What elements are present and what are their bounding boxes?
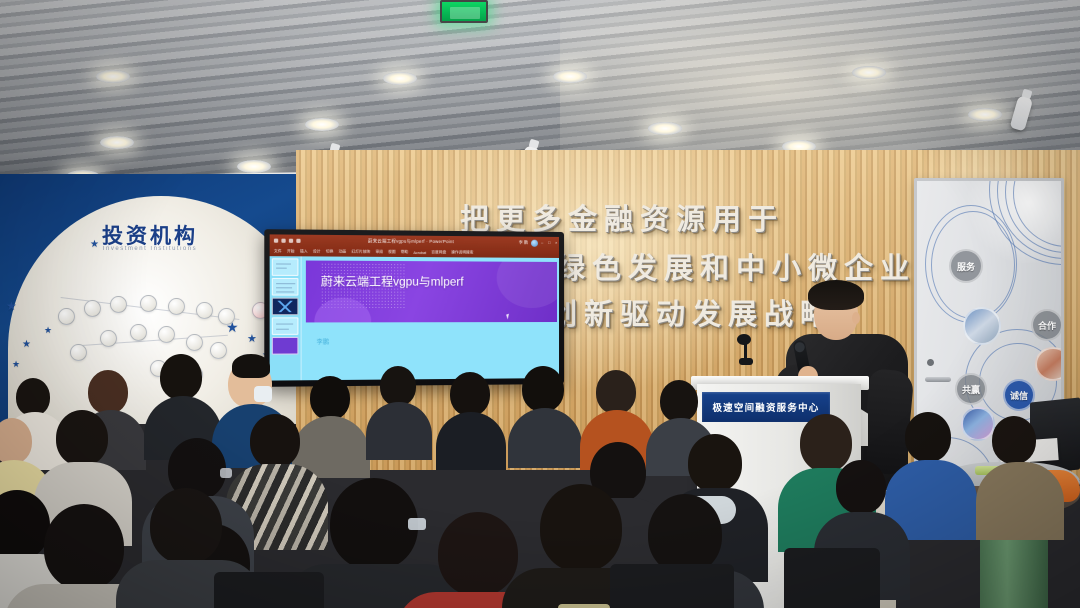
partner-badge (100, 330, 117, 347)
partner-badge (218, 308, 235, 325)
chair-back (610, 564, 734, 608)
downlight-icon (383, 72, 417, 85)
conference-room-photo: 投资机构 Investment Institutions ★ ★ ★ ★ ★ ★… (0, 0, 1080, 608)
downlight-icon (237, 160, 271, 173)
presenter-hair (808, 280, 864, 310)
partner-badge (58, 308, 75, 325)
door-photo-circle (963, 307, 1001, 345)
partner-badge (168, 298, 185, 315)
quick-access-toolbar[interactable] (274, 239, 301, 243)
partner-badge (110, 296, 127, 313)
account-name: 李 鹏 (519, 240, 528, 246)
star-icon: ★ (22, 340, 31, 350)
star-icon: ★ (44, 326, 52, 335)
ribbon-tab[interactable]: 操作说明搜索 (451, 250, 473, 255)
close-icon[interactable]: × (555, 241, 559, 245)
downlight-icon (968, 108, 1002, 121)
ceiling-glow (560, 0, 1080, 170)
ribbon-tab[interactable]: 视图 (388, 250, 395, 255)
minimize-icon[interactable]: – (541, 241, 545, 245)
slide-thumbnail[interactable] (272, 298, 299, 316)
ribbon-tab[interactable]: 幻灯片放映 (351, 249, 370, 254)
eyeglasses-icon (408, 518, 426, 530)
ribbon-tab[interactable]: 审阅 (375, 250, 382, 255)
slide-title-banner: 蔚来云端工程vgpu与mlperf (306, 261, 557, 323)
slide-author-text: 李鹏 (316, 337, 329, 346)
audience-seating-area (0, 352, 1080, 608)
partner-badge (158, 326, 175, 343)
eyeglasses-icon (220, 468, 232, 478)
downlight-icon (305, 118, 339, 131)
slide-thumbnail[interactable] (272, 278, 299, 296)
ribbon-tab[interactable]: 开始 (287, 249, 295, 254)
downlight-icon (100, 136, 134, 149)
star-icon: ★ (247, 334, 257, 345)
downlight-icon (96, 70, 130, 83)
partner-badge (186, 334, 203, 351)
door-circle-label: 服务 (957, 260, 975, 273)
chair-back (784, 548, 880, 608)
star-icon: ★ (90, 240, 99, 250)
account-indicator[interactable]: 李 鹏 (519, 239, 538, 246)
door-circle-service: 服务 (949, 249, 983, 283)
ribbon-tab[interactable]: 百度网盘 (431, 250, 446, 255)
face-mask-icon (254, 386, 272, 402)
partner-badge (84, 300, 101, 317)
left-wall-subheading: Investment Institutions (0, 246, 300, 252)
ribbon-tab[interactable]: Acrobat (413, 250, 426, 254)
downlight-icon (852, 66, 886, 79)
chair-back (214, 572, 324, 608)
presenter-ear (852, 312, 860, 324)
maximize-icon[interactable]: □ (548, 241, 552, 245)
ribbon-tab[interactable]: 插入 (300, 249, 308, 254)
document-title: 蔚来云端工程vgpu与mlperf · PowerPoint (301, 238, 519, 246)
ribbon-tab[interactable]: 帮助 (401, 250, 408, 255)
exit-sign-icon (440, 0, 488, 23)
ribbon-tab[interactable]: 设计 (313, 249, 321, 254)
door-circle-label: 合作 (1038, 319, 1056, 332)
avatar (531, 239, 538, 246)
window-controls[interactable]: – □ × (541, 241, 559, 245)
downlight-icon (553, 70, 587, 83)
door-circle-cooperation: 合作 (1031, 309, 1063, 341)
slide-thumbnail[interactable] (272, 258, 299, 276)
slide-thumbnail[interactable] (272, 317, 299, 335)
slide-title-text: 蔚来云端工程vgpu与mlperf (321, 275, 541, 291)
ribbon-tab[interactable]: 切换 (326, 249, 334, 254)
ribbon-tab[interactable]: 动画 (339, 249, 347, 254)
partner-badge (140, 295, 157, 312)
downlight-icon (648, 122, 682, 135)
partner-badge (196, 302, 213, 319)
partner-badge (130, 324, 147, 341)
shirt-print (558, 604, 610, 608)
ribbon-tab[interactable]: 文件 (274, 249, 282, 254)
